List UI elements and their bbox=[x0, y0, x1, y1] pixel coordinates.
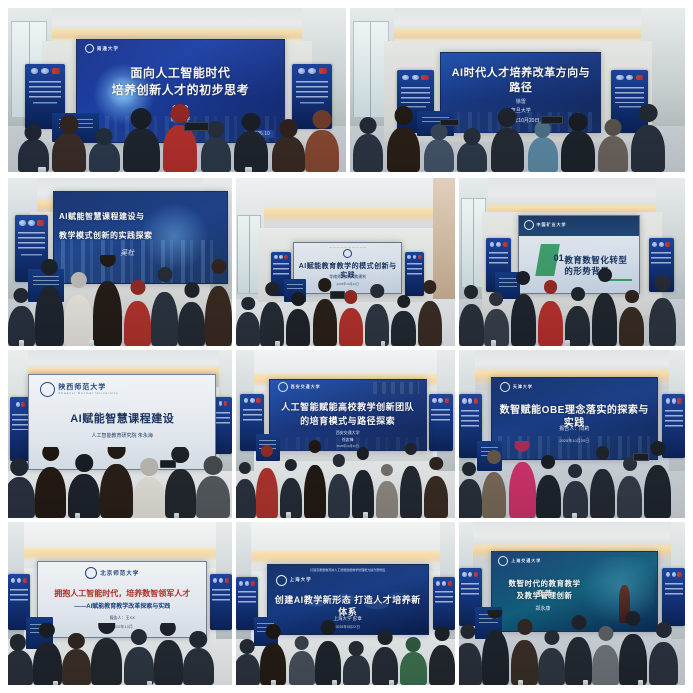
campus-photo-strip bbox=[373, 382, 420, 393]
screen-org-logo: 上海交通大学 bbox=[498, 556, 541, 566]
university-emblem-icon bbox=[85, 44, 94, 53]
audience-area bbox=[459, 265, 685, 346]
audience-area bbox=[236, 275, 455, 346]
section-number: 01 bbox=[554, 253, 564, 263]
screen-title-line1: AI时代人才培养改革方向与路径 bbox=[448, 66, 594, 96]
screen-title-line1: 拥抱人工智能时代，培养数智领军人才 bbox=[43, 588, 201, 599]
university-emblem-icon bbox=[498, 556, 508, 566]
photo-cell-11[interactable]: 上海交通大学 数智时代的教育教学变革 及教学管理创新 郑永康 bbox=[459, 522, 685, 685]
rollup-banner-right bbox=[214, 397, 232, 454]
screen-title-line2: ——AI赋能教育教学改革探索与实践 bbox=[48, 601, 196, 610]
screen-title-line1: 创建AI教学新形态 打造人才培养新体系 bbox=[274, 594, 421, 618]
org-logo-text: 西安交通大学 bbox=[291, 384, 321, 390]
audience-phone bbox=[633, 453, 649, 461]
org-logo-text: 南通大学 bbox=[97, 46, 119, 52]
photo-cell-10[interactable]: 打造高质量教育的人工智能赋能教学管理能力提升研修班 上海大学 创建AI教学新形态… bbox=[236, 522, 455, 685]
org-logo-text: 北京师范大学 bbox=[100, 569, 139, 577]
audience-area bbox=[236, 620, 455, 685]
screen-org-logo bbox=[343, 249, 352, 258]
screen-title-line2: 的培育模式与路径探索 bbox=[276, 415, 419, 427]
screen-affiliation: 西安交通大学 bbox=[279, 430, 416, 436]
audience-area bbox=[459, 610, 685, 685]
screen-affiliation: 人工智能教育研究院 朱永海 bbox=[40, 433, 204, 441]
org-logo-text: 上海交通大学 bbox=[511, 558, 541, 564]
photo-cell-5[interactable]: 中国矿业大学 01 教育数智化转型的形势背景 bbox=[459, 178, 685, 346]
screen-org-logo: 中国矿业大学 bbox=[524, 220, 567, 230]
org-logo-text: 上海大学 bbox=[290, 577, 312, 583]
university-emblem-icon bbox=[278, 382, 288, 392]
screen-org-logo: 西安交通大学 bbox=[278, 382, 321, 392]
audience-area bbox=[350, 97, 685, 172]
audience-area bbox=[8, 255, 232, 346]
audience-area bbox=[236, 437, 455, 518]
photo-cell-3[interactable]: AI赋能智慧课程建设与 教学模式创新的实践探索 吴杜 bbox=[8, 178, 232, 346]
audience-phone bbox=[541, 116, 563, 124]
photo-cell-9[interactable]: 北京师范大学 拥抱人工智能时代，培养数智领军人才 ——AI赋能教育教学改革探索与… bbox=[8, 522, 232, 685]
photo-cell-7[interactable]: 西安交通大学 人工智能赋能高校教学创新团队 的培育模式与路径探索 西安交通大学 … bbox=[236, 350, 455, 518]
org-logo-text: 天津大学 bbox=[513, 384, 533, 390]
university-emblem-icon bbox=[85, 567, 97, 579]
screen-title-line1: 面向人工智能时代 bbox=[85, 65, 276, 81]
university-emblem-icon bbox=[276, 575, 287, 586]
photo-cell-8[interactable]: 天津大学 数智赋能OBE理念落实的探索与实践 报告人：闫莉 2025年10月20… bbox=[459, 350, 685, 518]
university-emblem-icon bbox=[40, 382, 55, 397]
screen-banner-text: 打造高质量教育的人工智能赋能教学管理能力提升研修班 bbox=[268, 568, 428, 572]
rollup-banner-right bbox=[210, 574, 232, 629]
audience-area bbox=[8, 97, 346, 172]
org-logo-text: 中国矿业大学 bbox=[537, 222, 567, 228]
screen-org-logo: 天津大学 bbox=[500, 382, 533, 392]
screen-speaker: 报告人：王XX bbox=[48, 615, 196, 621]
screen-title-line1: AI赋能智慧课程建设与 bbox=[59, 212, 149, 223]
screen-title-line1: AI赋能智慧课程建设 bbox=[37, 412, 208, 427]
audience-area bbox=[8, 447, 232, 518]
photo-cell-1[interactable]: 南通大学 面向人工智能时代 培养创新人才的初步思考 徐骏 南通大学 2025.1… bbox=[8, 8, 346, 172]
photo-cell-2[interactable]: AI时代人才培养改革方向与路径 徐雷 复旦大学 2025年10月20日 bbox=[350, 8, 685, 172]
university-emblem-icon bbox=[343, 249, 352, 258]
screen-org-logo: 陕西师范大学 Shaanxi Normal University bbox=[40, 382, 118, 397]
university-emblem-icon bbox=[500, 382, 510, 392]
screen-org-logo: 北京师范大学 bbox=[85, 567, 139, 579]
audience-phone bbox=[184, 122, 210, 131]
audience-area bbox=[459, 441, 685, 518]
audience-phone bbox=[160, 460, 175, 468]
screen-org-logo: 上海大学 bbox=[276, 575, 312, 586]
screen-org-logo: 南通大学 bbox=[85, 44, 119, 53]
org-logo-subtext: Shaanxi Normal University bbox=[58, 392, 118, 395]
university-emblem-icon bbox=[524, 220, 534, 230]
audience-area bbox=[8, 623, 232, 685]
screen-title-line2: 教学模式创新的实践探索 bbox=[59, 231, 154, 242]
photo-cell-4[interactable]: — — — — — — — — — — AI赋能教育教学的模式创新与实践 华南师… bbox=[236, 178, 455, 346]
photo-collage: 南通大学 面向人工智能时代 培养创新人才的初步思考 徐骏 南通大学 2025.1… bbox=[0, 0, 693, 693]
screen-speaker: 报告人：闫莉 bbox=[502, 426, 647, 434]
photo-cell-6[interactable]: 陕西师范大学 Shaanxi Normal University AI赋能智慧课… bbox=[8, 350, 232, 518]
audience-phone bbox=[330, 291, 345, 299]
screen-title-line2: 及教学管理创新 bbox=[505, 591, 584, 601]
screen-title-line1: 人工智能赋能高校教学创新团队 bbox=[276, 401, 419, 413]
audience-phone bbox=[440, 119, 459, 126]
